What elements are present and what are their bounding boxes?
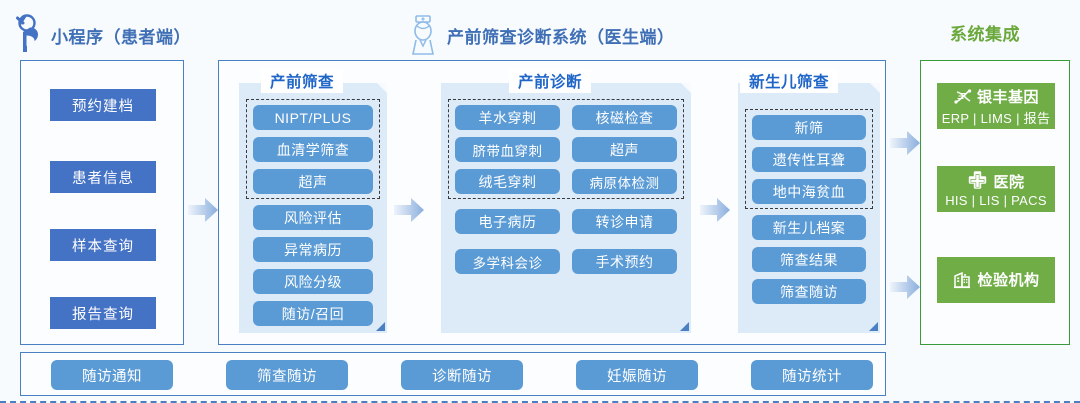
screening-item-serum[interactable]: 血清学筛查	[253, 137, 373, 162]
header-patient-title: 小程序（患者端）	[51, 23, 191, 48]
screening-item-risk-grading[interactable]: 风险分级	[253, 269, 373, 294]
diagnosis-item-amniocentesis[interactable]: 羊水穿刺	[455, 105, 560, 130]
followup-button-diagnosis[interactable]: 诊断随访	[401, 360, 523, 390]
arrow-diagnosis-to-newborn	[698, 195, 732, 225]
followup-button-statistics[interactable]: 随访统计	[751, 360, 873, 390]
diagnosis-item-mri[interactable]: 核磁检查	[572, 105, 677, 130]
followup-button-pregnancy[interactable]: 妊娠随访	[576, 360, 698, 390]
diagnosis-item-ultrasound[interactable]: 超声	[572, 137, 677, 162]
followup-button-screening[interactable]: 筛查随访	[226, 360, 348, 390]
diagram-canvas: 小程序（患者端） 产前筛查诊断系统（医生端） 系统集成 预约建档 患者信息 样本…	[0, 0, 1080, 403]
doctor-nurse-icon	[406, 14, 440, 56]
patient-button-info[interactable]: 患者信息	[50, 161, 156, 193]
header-doctor: 产前筛查诊断系统（医生端）	[406, 14, 675, 56]
group-newborn-screening: 新筛 遗传性耳聋 地中海贫血 新生儿档案 筛查结果 筛查随访	[738, 83, 880, 333]
followup-button-notice[interactable]: 随访通知	[51, 360, 173, 390]
newborn-item-followup[interactable]: 筛查随访	[752, 279, 866, 304]
diagnosis-item-referral[interactable]: 转诊申请	[572, 209, 677, 234]
header-patient: 小程序（患者端）	[10, 14, 191, 56]
group-title-prenatal-screening: 产前筛查	[261, 69, 343, 93]
group-title-newborn-screening: 新生儿筛查	[740, 69, 838, 93]
diagnosis-item-surgery-booking[interactable]: 手术预约	[572, 249, 677, 274]
diagnosis-item-cvs[interactable]: 绒毛穿刺	[455, 169, 560, 194]
arrow-screening-to-diagnosis	[392, 195, 426, 225]
newborn-item-record[interactable]: 新生儿档案	[752, 215, 866, 240]
newborn-item-deafness[interactable]: 遗传性耳聋	[752, 147, 866, 172]
integration-card-lab-title: 检验机构	[977, 269, 1039, 290]
newborn-item-screening[interactable]: 新筛	[752, 115, 866, 140]
integration-card-gene-subtitle: ERP | LIMS | 报告	[942, 108, 1051, 127]
patient-panel: 预约建档 患者信息 样本查询 报告查询	[20, 60, 184, 345]
followup-panel: 随访通知 筛查随访 诊断随访 妊娠随访 随访统计	[20, 352, 886, 396]
doctor-panel: 产前筛查 NIPT/PLUS 血清学筛查 超声 风险评估 异常病历 风险分级 随…	[218, 60, 886, 345]
cross-icon	[967, 171, 988, 191]
diagnosis-item-emr[interactable]: 电子病历	[455, 209, 560, 234]
screening-item-nipt[interactable]: NIPT/PLUS	[253, 105, 373, 130]
newborn-item-result[interactable]: 筛查结果	[752, 247, 866, 272]
pregnant-woman-icon	[10, 14, 44, 56]
building-icon	[952, 270, 972, 290]
header-doctor-title: 产前筛查诊断系统（医生端）	[447, 23, 675, 48]
screening-item-abnormal-record[interactable]: 异常病历	[253, 237, 373, 262]
diagnosis-item-mdt[interactable]: 多学科会诊	[455, 249, 560, 274]
dna-icon	[953, 88, 972, 105]
patient-button-report[interactable]: 报告查询	[50, 297, 156, 329]
arrow-newborn-to-lab	[888, 272, 922, 302]
integration-panel: 银丰基因 ERP | LIMS | 报告 医院 HIS | LIS | PACS	[920, 60, 1070, 345]
group-title-prenatal-diagnosis: 产前诊断	[509, 69, 591, 93]
screening-item-risk-assessment[interactable]: 风险评估	[253, 205, 373, 230]
diagnosis-item-pathogen[interactable]: 病原体检测	[572, 169, 677, 194]
diagnosis-item-cordocentesis[interactable]: 脐带血穿刺	[455, 137, 560, 162]
patient-button-appointment[interactable]: 预约建档	[50, 89, 156, 121]
arrow-newborn-to-gene	[888, 128, 922, 158]
integration-card-gene-title: 银丰基因	[977, 86, 1039, 107]
integration-card-hospital-subtitle: HIS | LIS | PACS	[945, 193, 1047, 208]
newborn-item-thalassemia[interactable]: 地中海贫血	[752, 179, 866, 204]
integration-card-hospital-title: 医院	[993, 171, 1024, 192]
header-integration-title: 系统集成	[950, 20, 1020, 45]
arrow-patient-to-screening	[186, 195, 220, 225]
integration-card-lab[interactable]: 检验机构	[937, 257, 1055, 303]
screening-item-followup-recall[interactable]: 随访/召回	[253, 301, 373, 326]
group-prenatal-screening: NIPT/PLUS 血清学筛查 超声 风险评估 异常病历 风险分级 随访/召回	[239, 83, 387, 333]
integration-card-hospital[interactable]: 医院 HIS | LIS | PACS	[937, 166, 1055, 212]
integration-card-gene[interactable]: 银丰基因 ERP | LIMS | 报告	[937, 83, 1055, 129]
header-integration: 系统集成	[950, 20, 1020, 45]
group-prenatal-diagnosis: 羊水穿刺 核磁检查 脐带血穿刺 超声 绒毛穿刺 病原体检测 电子病历 转诊申请 …	[441, 83, 691, 333]
patient-button-sample[interactable]: 样本查询	[50, 229, 156, 261]
screening-item-ultrasound[interactable]: 超声	[253, 169, 373, 194]
